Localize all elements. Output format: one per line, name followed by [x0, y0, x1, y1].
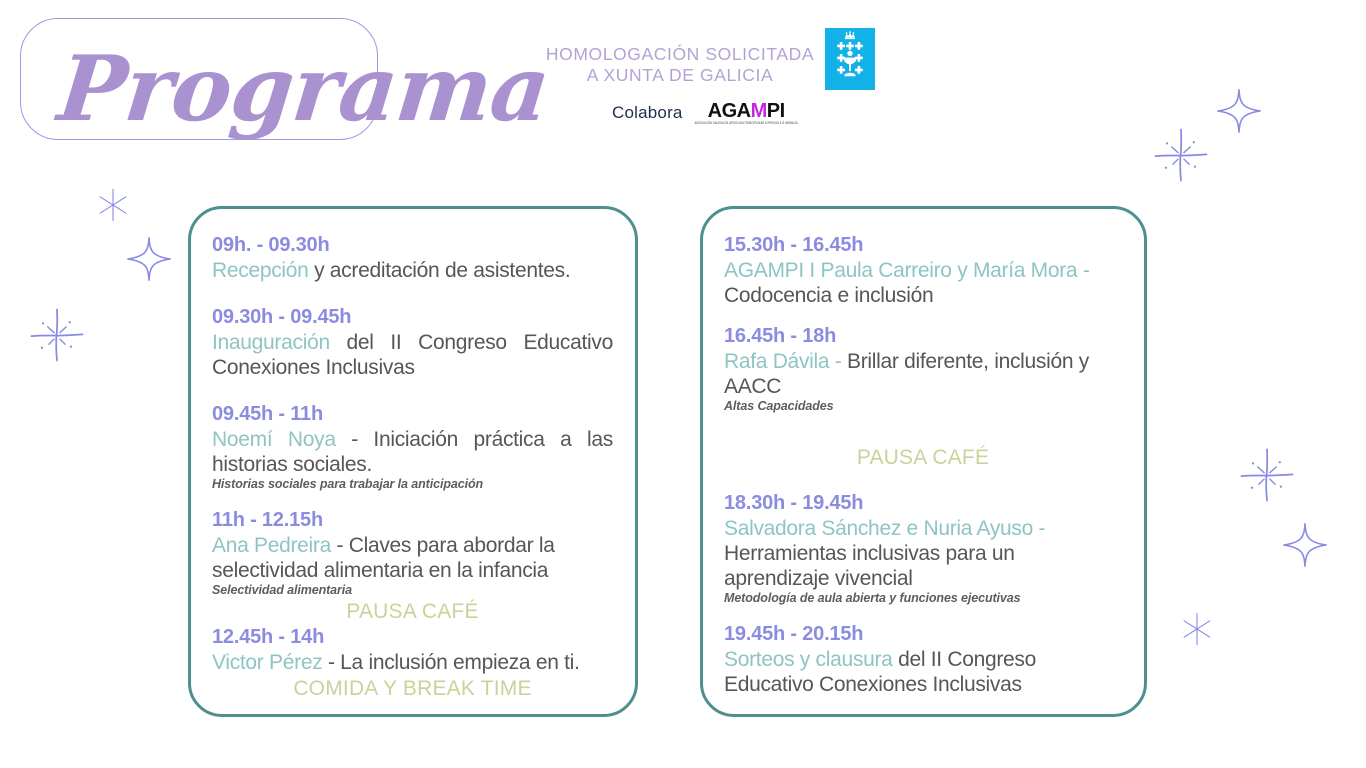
slot-description: Inauguración del II Congreso Educativo C… [212, 330, 613, 380]
slot-time: 09.30h - 09.45h [212, 305, 613, 330]
slot-time: 12.45h - 14h [212, 625, 613, 650]
slot-time: 18.30h - 19.45h [724, 491, 1122, 516]
program-slot: 12.45h - 14h Victor Pérez - La inclusión… [212, 625, 613, 675]
sparkle-diamond-2-icon [1216, 88, 1262, 134]
slot-description: Salvadora Sánchez e Nuria Ayuso - Herram… [724, 516, 1122, 591]
slot-speaker: Recepción [212, 259, 309, 282]
agampi-subtitle: ASOCIACIÓN GALEGA DE APOIO MULTIDISCIPLI… [695, 122, 798, 125]
slot-topic: y acreditación de asistentes. [309, 259, 571, 282]
agampi-letter-m: M [751, 101, 767, 121]
slot-topic: - La inclusión empieza en ti. [322, 651, 579, 674]
slot-speaker: Victor Pérez [212, 651, 322, 674]
page-title: Programa [53, 29, 406, 149]
break-pausa-cafe: PAUSA CAFÉ [212, 598, 613, 625]
sparkle-diamond-1-icon [126, 236, 172, 282]
slot-time: 09h. - 09.30h [212, 233, 613, 258]
slot-topic: Herramientas inclusivas para un aprendiz… [724, 542, 1015, 590]
agampi-logo: AGA M PI ASOCIACIÓN GALEGA DE APOIO MULT… [695, 101, 798, 126]
homologation-line-2: A XUNTA DE GALICIA [545, 65, 815, 86]
slot-speaker: Ana Pedreira [212, 534, 331, 557]
program-card-morning: 09h. - 09.30h Recepción y acreditación d… [188, 206, 638, 717]
slot-description: Victor Pérez - La inclusión empieza en t… [212, 650, 613, 675]
program-slot: 09.45h - 11h Noemí Noya - Iniciación prá… [212, 402, 613, 492]
program-slot: 19.45h - 20.15h Sorteos y clausura del I… [724, 622, 1122, 697]
programa-title-badge: Programa [20, 18, 378, 140]
break-pausa-cafe: PAUSA CAFÉ [724, 444, 1122, 471]
sparkle-asterisk-1-icon [96, 188, 130, 222]
program-slot: 18.30h - 19.45h Salvadora Sánchez e Nuri… [724, 491, 1122, 606]
program-slot: 09h. - 09.30h Recepción y acreditación d… [212, 233, 613, 283]
agampi-letters-aga: AGA [708, 101, 751, 121]
slot-description: Sorteos y clausura del II Congreso Educa… [724, 647, 1122, 697]
agampi-letters-pi: PI [767, 101, 785, 121]
slot-speaker: Inauguración [212, 331, 330, 354]
slot-speaker: Noemí Noya [212, 428, 336, 451]
program-slot: 11h - 12.15h Ana Pedreira - Claves para … [212, 508, 613, 598]
slot-note: Altas Capacidades [724, 398, 1122, 414]
slot-time: 16.45h - 18h [724, 324, 1122, 349]
homologation-line-1: HOMOLOGACIÓN SOLICITADA [545, 44, 815, 65]
sparkle-asterisk-2-icon [1180, 612, 1214, 646]
sparkle-diamond-3-icon [1282, 522, 1328, 568]
program-slot: 16.45h - 18h Rafa Dávila - Brillar difer… [724, 324, 1122, 414]
slot-note: Historias sociales para trabajar la anti… [212, 476, 613, 492]
slot-note: Metodología de aula abierta y funciones … [724, 590, 1122, 606]
slot-time: 15.30h - 16.45h [724, 233, 1122, 258]
slot-speaker: Salvadora Sánchez e Nuria Ayuso - [724, 517, 1045, 540]
slot-topic: Codocencia e inclusión [724, 284, 933, 307]
sparkle-handdrawn-3-icon [1238, 446, 1296, 504]
slot-description: Rafa Dávila - Brillar diferente, inclusi… [724, 349, 1122, 399]
break-comida: COMIDA Y BREAK TIME [212, 675, 613, 702]
sparkle-handdrawn-1-icon [28, 306, 86, 364]
sparkle-handdrawn-2-icon [1152, 126, 1210, 184]
slot-speaker: Rafa Dávila - [724, 350, 841, 373]
slot-speaker: AGAMPI I Paula Carreiro y María Mora - [724, 259, 1090, 282]
agampi-wordmark: AGA M PI [708, 101, 785, 121]
slot-time: 09.45h - 11h [212, 402, 613, 427]
program-slot: 15.30h - 16.45h AGAMPI I Paula Carreiro … [724, 233, 1122, 308]
xunta-de-galicia-logo [825, 28, 875, 90]
slot-note: Selectividad alimentaria [212, 582, 613, 598]
slot-description: Noemí Noya - Iniciación práctica a las h… [212, 427, 613, 477]
slot-description: Ana Pedreira - Claves para abordar la se… [212, 533, 613, 583]
colabora-row: Colabora AGA M PI ASOCIACIÓN GALEGA DE A… [612, 100, 798, 126]
slot-speaker: Sorteos y clausura [724, 648, 893, 671]
slot-description: Recepción y acreditación de asistentes. [212, 258, 613, 283]
program-slot: 09.30h - 09.45h Inauguración del II Cong… [212, 305, 613, 380]
colabora-label: Colabora [612, 103, 683, 123]
homologation-text: HOMOLOGACIÓN SOLICITADA A XUNTA DE GALIC… [545, 44, 815, 86]
program-card-afternoon: 15.30h - 16.45h AGAMPI I Paula Carreiro … [700, 206, 1147, 717]
slot-time: 11h - 12.15h [212, 508, 613, 533]
slot-time: 19.45h - 20.15h [724, 622, 1122, 647]
slot-description: AGAMPI I Paula Carreiro y María Mora - C… [724, 258, 1122, 308]
